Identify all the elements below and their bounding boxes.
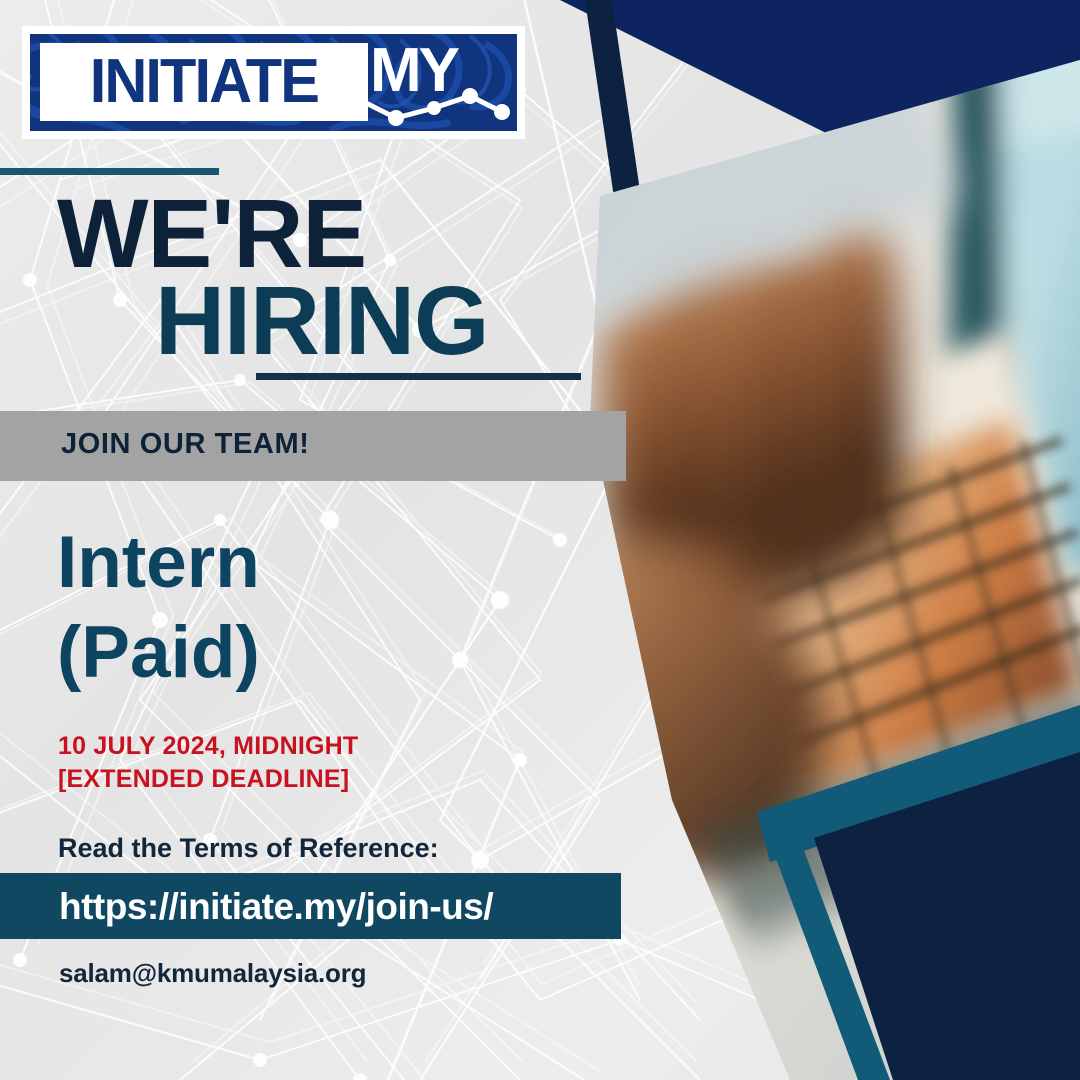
logo-blue-panel: INITIATE MY [30,34,517,131]
join-team-label: JOIN OUR TEAM! [61,428,309,461]
headline-bottom-rule [256,373,581,380]
headline-line-2: HIRING [155,272,489,371]
terms-of-reference-label: Read the Terms of Reference: [58,833,439,864]
logo-wordmark-box: INITIATE [40,43,368,121]
contact-email[interactable]: salam@kmumalaysia.org [59,958,366,989]
brand-logo[interactable]: INITIATE MY [22,26,525,139]
application-url-link[interactable]: https://initiate.my/join-us/ [59,886,493,928]
network-line-chart-icon [350,86,515,128]
logo-wordmark-text: INITIATE [90,51,318,113]
headline-top-rule [0,168,219,175]
poster-canvas: INITIATE MY WE'RE HIRING JOIN OUR TEAM! … [0,0,1080,1080]
deadline-text: 10 JULY 2024, MIDNIGHT [EXTENDED DEADLIN… [58,730,358,796]
role-title: Intern (Paid) [57,518,260,698]
